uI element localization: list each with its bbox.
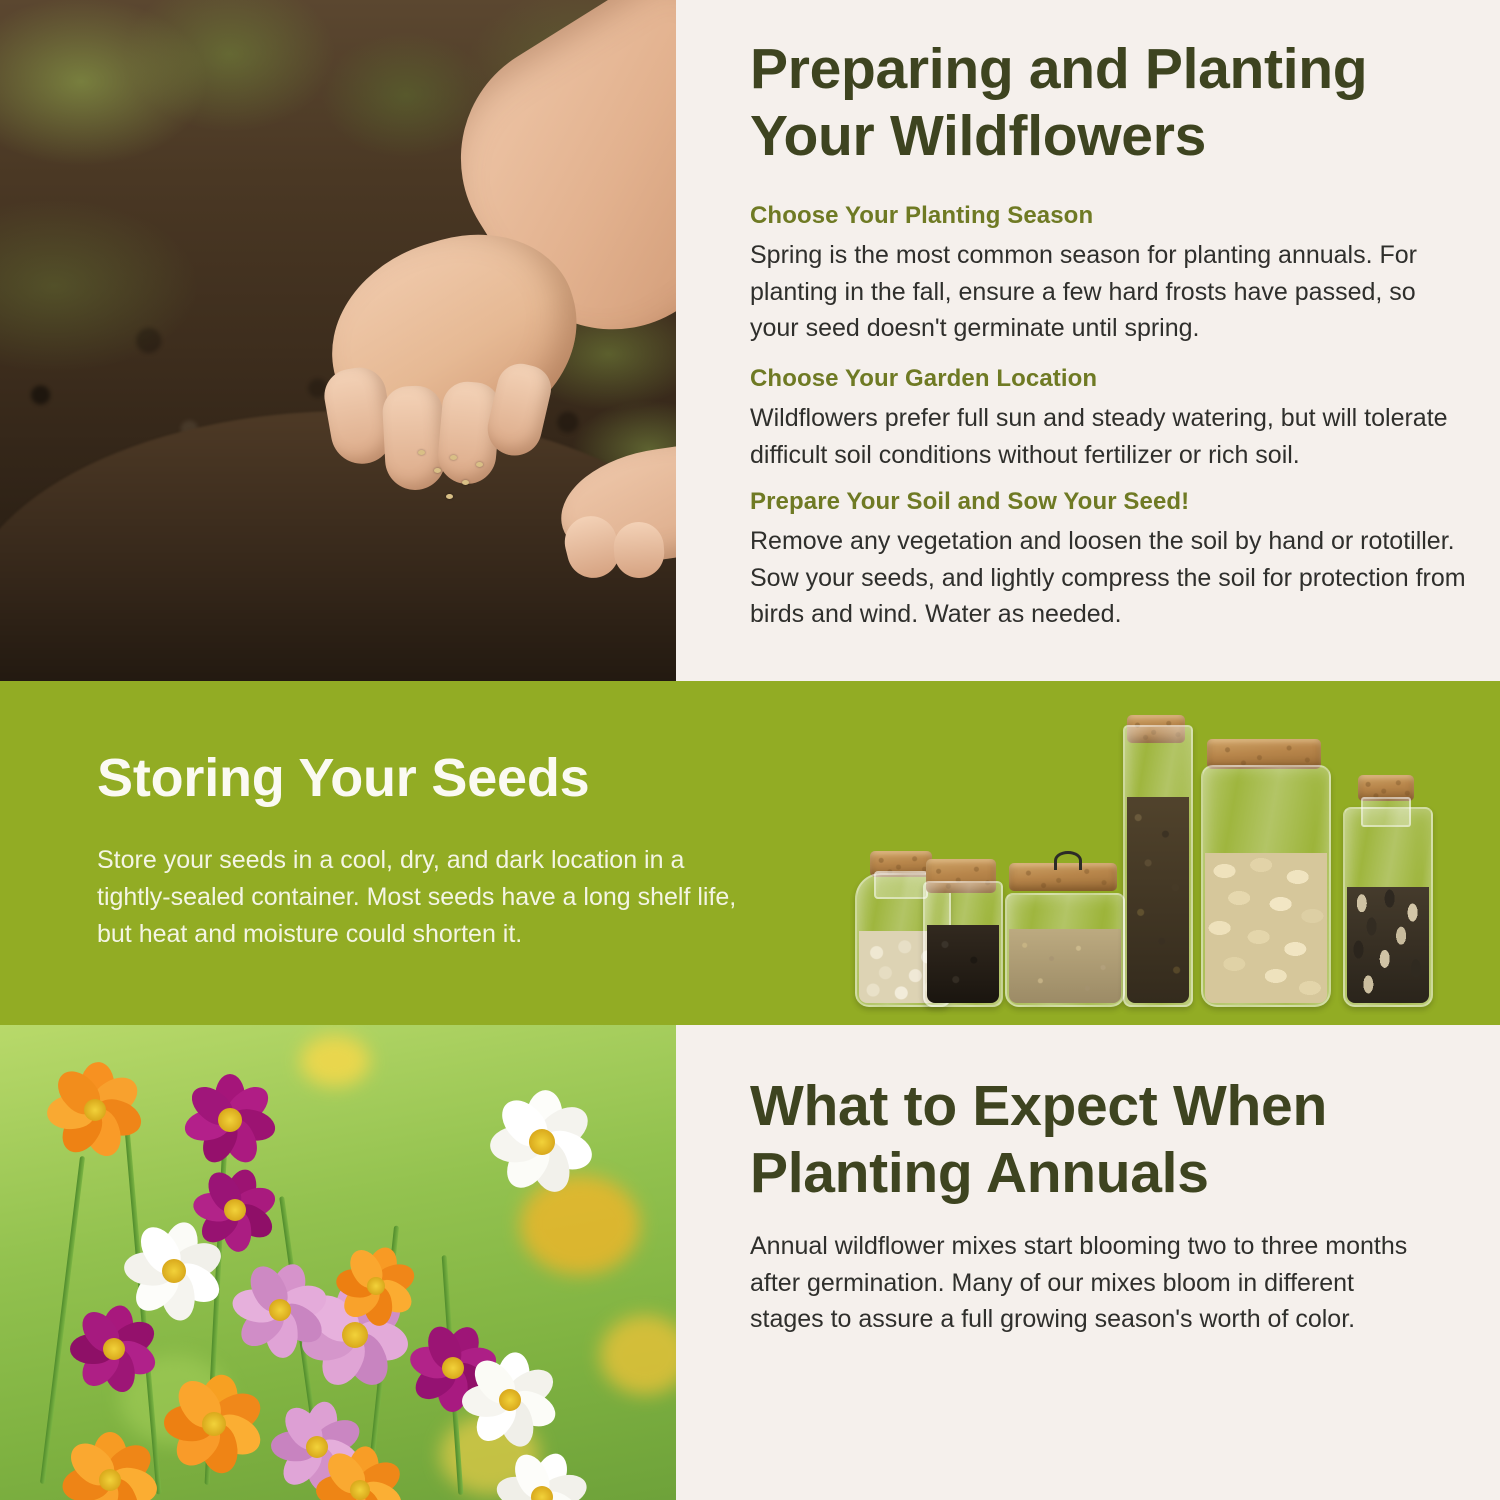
jar-tan-grain bbox=[1005, 863, 1121, 1007]
jar-neck bbox=[1361, 797, 1411, 827]
photo-hands-sowing-seeds bbox=[0, 0, 676, 681]
jar-pumpkin-seeds bbox=[1201, 739, 1327, 1007]
jar-sunflower-seeds bbox=[1343, 775, 1429, 1007]
seed-fill bbox=[1347, 887, 1429, 1003]
storing-title: Storing Your Seeds bbox=[97, 747, 590, 809]
glass-body bbox=[1123, 725, 1193, 1007]
planting-text-panel: Preparing and Planting Your Wildflowers … bbox=[676, 0, 1500, 681]
jar-black-seeds bbox=[923, 859, 999, 1007]
cork-lid bbox=[1009, 863, 1117, 891]
flower-orange bbox=[55, 1425, 165, 1500]
infographic-page: Preparing and Planting Your Wildflowers … bbox=[0, 0, 1500, 1500]
block-planting-season: Choose Your Planting Season Spring is th… bbox=[750, 202, 1466, 347]
flower-orange bbox=[155, 1365, 273, 1483]
section-preparing-planting: Preparing and Planting Your Wildflowers … bbox=[0, 0, 1500, 681]
jar-tall-dark-seeds bbox=[1123, 715, 1189, 1007]
body-text: Remove any vegetation and loosen the soi… bbox=[750, 523, 1466, 633]
seed-fill bbox=[927, 925, 999, 1003]
glass-body bbox=[1343, 807, 1433, 1007]
glass-body bbox=[1201, 765, 1331, 1007]
storing-body: Store your seeds in a cool, dry, and dar… bbox=[97, 842, 747, 953]
section-storing-seeds: Storing Your Seeds Store your seeds in a… bbox=[0, 681, 1500, 1025]
bokeh-light bbox=[300, 1035, 370, 1087]
block-prepare-soil: Prepare Your Soil and Sow Your Seed! Rem… bbox=[750, 488, 1466, 633]
flower-white bbox=[118, 1215, 230, 1327]
seed-fill bbox=[1009, 929, 1121, 1003]
block-garden-location: Choose Your Garden Location Wildflowers … bbox=[750, 365, 1466, 473]
page-title: Preparing and Planting Your Wildflowers bbox=[750, 36, 1450, 171]
expect-body: Annual wildflower mixes start blooming t… bbox=[750, 1228, 1430, 1338]
flower-orange bbox=[330, 1240, 422, 1332]
flower-magenta bbox=[175, 1065, 285, 1175]
body-text: Wildflowers prefer full sun and steady w… bbox=[750, 400, 1466, 473]
section-what-to-expect: What to Expect When Planting Annuals Ann… bbox=[0, 1025, 1500, 1500]
flower-pink bbox=[225, 1255, 335, 1365]
subheading: Choose Your Garden Location bbox=[750, 365, 1466, 393]
flower-orange bbox=[40, 1055, 150, 1165]
body-text: Spring is the most common season for pla… bbox=[750, 237, 1466, 347]
subheading: Choose Your Planting Season bbox=[750, 202, 1466, 230]
glass-body bbox=[1005, 893, 1125, 1007]
flower-orange bbox=[310, 1440, 410, 1500]
bokeh-light bbox=[600, 1315, 676, 1395]
expect-text-panel: What to Expect When Planting Annuals Ann… bbox=[676, 1025, 1500, 1500]
expect-title: What to Expect When Planting Annuals bbox=[750, 1073, 1440, 1208]
hand-secondary bbox=[560, 430, 676, 580]
flower-white bbox=[480, 1080, 604, 1204]
subheading: Prepare Your Soil and Sow Your Seed! bbox=[750, 488, 1466, 516]
photo-seed-jars bbox=[845, 697, 1465, 1007]
jar-neck bbox=[874, 871, 928, 899]
flower-white bbox=[490, 1445, 594, 1500]
glass-body bbox=[923, 881, 1003, 1007]
photo-wildflower-bouquet bbox=[0, 1025, 676, 1500]
lid-knob bbox=[1054, 851, 1082, 870]
seed-fill bbox=[1205, 853, 1327, 1003]
flower-white bbox=[455, 1345, 565, 1455]
seed-fill bbox=[1127, 797, 1189, 1003]
